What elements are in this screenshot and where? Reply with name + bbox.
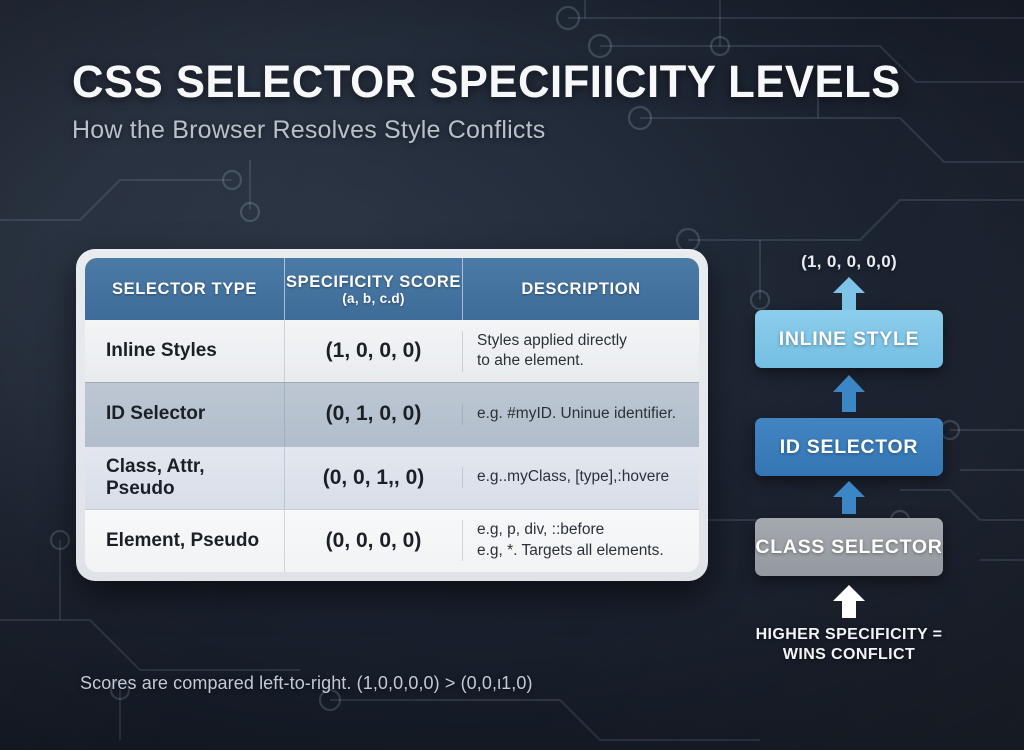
- specificity-table-card: SELECTOR TYPE SPECIFICITY SCORE (a, b, c…: [76, 249, 708, 581]
- cell-description: e.g..myClass, [type],:hovere: [462, 467, 699, 487]
- specificity-flow-diagram: (1, 0, 0, 0,0) INLINE STYLE ID SELECTOR …: [742, 252, 956, 666]
- page-title: CSS SELECTOR SPECIFIICITY LEVELS: [72, 58, 906, 105]
- flow-node-label: ID SELECTOR: [780, 436, 918, 459]
- arrow-up-icon: [829, 276, 869, 310]
- cell-specificity-score: (1, 0, 0, 0): [284, 320, 462, 382]
- cell-selector-type: Element, Pseudo: [85, 510, 284, 572]
- column-header-label: SPECIFICITY SCORE: [286, 273, 461, 292]
- arrow-up-icon: [829, 480, 869, 514]
- column-header-label: SELECTOR TYPE: [112, 280, 257, 299]
- header: CSS SELECTOR SPECIFIICITY LEVELS How the…: [72, 58, 932, 145]
- table-row: Element, Pseudo (0, 0, 0, 0) e.g, p, div…: [85, 509, 699, 572]
- flow-node-label: INLINE STYLE: [779, 328, 920, 351]
- cell-selector-type: Class, Attr, Pseudo: [85, 447, 284, 509]
- column-header-sublabel: (a, b, c.d): [342, 291, 405, 306]
- flow-node-inline-style[interactable]: INLINE STYLE: [755, 310, 943, 368]
- description-line: e.g, *. Targets all elements.: [477, 541, 685, 561]
- column-header-selector-type: SELECTOR TYPE: [85, 258, 284, 320]
- table-row: ID Selector (0, 1, 0, 0) e.g. #myID. Uni…: [85, 382, 699, 445]
- arrow-up-icon: [829, 374, 869, 412]
- table-header-row: SELECTOR TYPE SPECIFICITY SCORE (a, b, c…: [85, 258, 699, 320]
- flow-caption-line: WINS CONFLICT: [742, 645, 956, 665]
- cell-specificity-score: (0, 1, 0, 0): [284, 383, 462, 445]
- flow-node-label: CLASS SELECTOR: [755, 536, 942, 559]
- flow-node-class-selector[interactable]: CLASS SELECTOR: [755, 518, 943, 576]
- description-line: e.g, p, div, ::before: [477, 520, 685, 540]
- cell-description: Styles applied directly to ahe element.: [462, 331, 699, 372]
- cell-selector-type: ID Selector: [85, 383, 284, 445]
- description-line: to ahe element.: [477, 351, 685, 371]
- description-line: e.g..myClass, [type],:hovere: [477, 467, 685, 487]
- flow-top-score-label: (1, 0, 0, 0,0): [742, 252, 956, 272]
- page-subtitle: How the Browser Resolves Style Conflicts: [72, 116, 932, 145]
- cell-description: e.g, p, div, ::before e.g, *. Targets al…: [462, 520, 699, 561]
- cell-specificity-score: (0, 0, 1,, 0): [284, 447, 462, 509]
- column-header-description: DESCRIPTION: [462, 258, 699, 320]
- cell-selector-type: Inline Styles: [85, 320, 284, 382]
- column-header-specificity-score: SPECIFICITY SCORE (a, b, c.d): [284, 258, 462, 320]
- footer-note: Scores are compared left-to-right. (1,0,…: [80, 673, 533, 694]
- table-row: Class, Attr, Pseudo (0, 0, 1,, 0) e.g..m…: [85, 446, 699, 509]
- arrow-up-icon: [829, 584, 869, 618]
- description-line: Styles applied directly: [477, 331, 685, 351]
- table-row: Inline Styles (1, 0, 0, 0) Styles applie…: [85, 320, 699, 382]
- cell-specificity-score: (0, 0, 0, 0): [284, 510, 462, 572]
- cell-description: e.g. #myID. Uninue identifier.: [462, 404, 699, 424]
- flow-node-id-selector[interactable]: ID SELECTOR: [755, 418, 943, 476]
- flow-caption: HIGHER SPECIFICITY = WINS CONFLICT: [742, 625, 956, 666]
- description-line: e.g. #myID. Uninue identifier.: [477, 404, 685, 424]
- specificity-table: SELECTOR TYPE SPECIFICITY SCORE (a, b, c…: [85, 258, 699, 572]
- flow-caption-line: HIGHER SPECIFICITY =: [742, 625, 956, 645]
- column-header-label: DESCRIPTION: [521, 280, 640, 299]
